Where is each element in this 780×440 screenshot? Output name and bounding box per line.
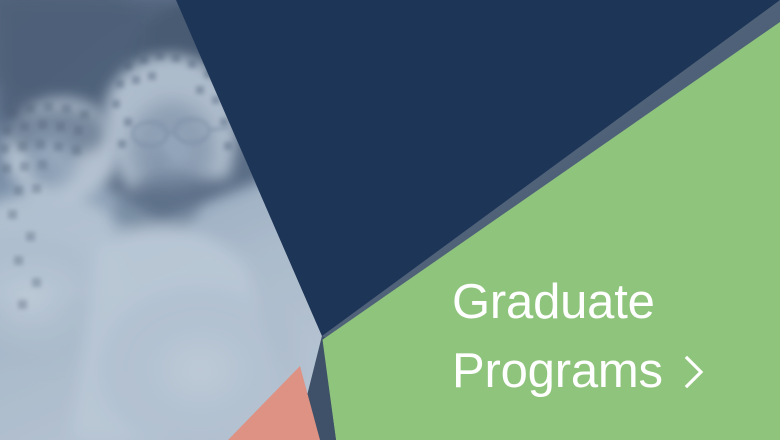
banner-geometry <box>0 0 780 440</box>
graduate-programs-banner-card[interactable]: Graduate Programs <box>0 0 780 440</box>
